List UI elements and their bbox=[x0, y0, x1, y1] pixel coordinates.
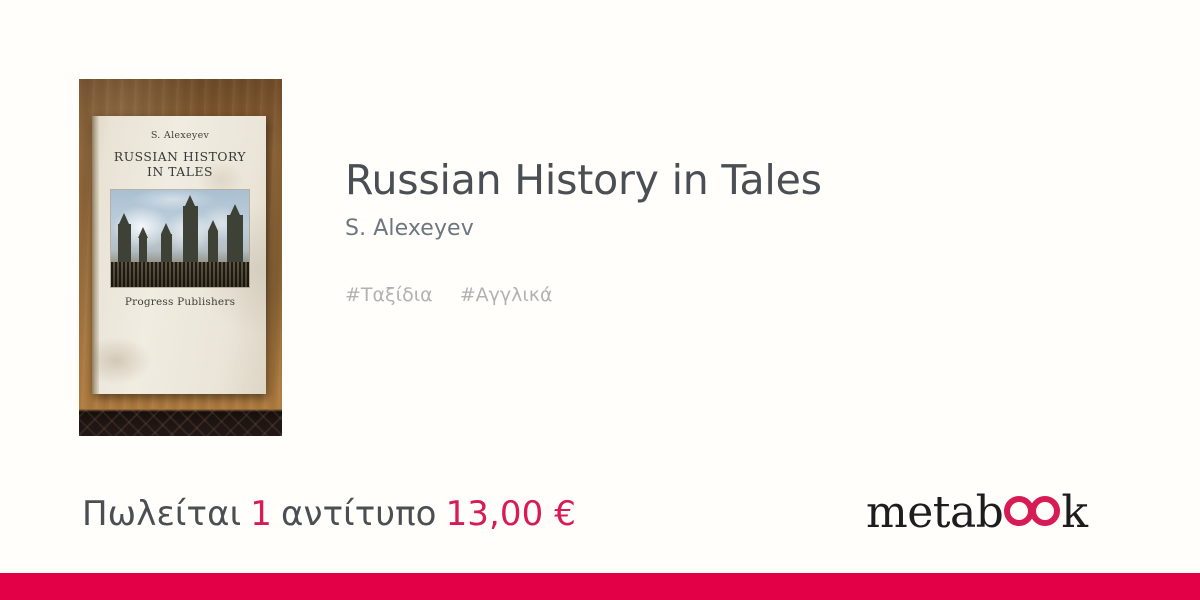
metabook-wordmark: metab k bbox=[866, 491, 1088, 535]
book-front-cover: S. Alexeyev RUSSIAN HISTORY IN TALES Pro… bbox=[92, 116, 266, 308]
copies-unit: αντίτυπο bbox=[281, 494, 437, 534]
artwork-crowd bbox=[111, 262, 249, 287]
tag-list: #Ταξίδια #Αγγλικά bbox=[345, 284, 1145, 306]
logo-text-before-rings: metab bbox=[866, 491, 1003, 535]
artwork-tower bbox=[139, 238, 147, 264]
patterned-rug-background bbox=[79, 409, 282, 436]
tag-english[interactable]: #Αγγλικά bbox=[460, 284, 553, 306]
availability-line: Πωλείται1αντίτυπο13,00 € bbox=[82, 494, 576, 534]
availability-prefix: Πωλείται bbox=[82, 494, 241, 534]
ring-right bbox=[1030, 496, 1060, 526]
bottom-accent-bar bbox=[0, 573, 1200, 600]
cover-title-text: RUSSIAN HISTORY IN TALES bbox=[104, 150, 256, 180]
artwork-tower bbox=[161, 234, 172, 264]
logo-text-after-rings: k bbox=[1061, 491, 1087, 535]
listing-page: S. Alexeyev RUSSIAN HISTORY IN TALES Pro… bbox=[0, 0, 1200, 600]
book-author: S. Alexeyev bbox=[345, 216, 1145, 241]
book-cover-photo[interactable]: S. Alexeyev RUSSIAN HISTORY IN TALES Pro… bbox=[79, 79, 282, 436]
listing-details: Russian History in Tales S. Alexeyev #Τα… bbox=[345, 158, 1145, 306]
cover-artwork bbox=[111, 190, 249, 287]
book-object: S. Alexeyev RUSSIAN HISTORY IN TALES Pro… bbox=[92, 116, 266, 394]
page-title: Russian History in Tales bbox=[345, 158, 1145, 204]
cover-author-text: S. Alexeyev bbox=[104, 130, 256, 141]
cover-title-line-2: IN TALES bbox=[104, 165, 256, 180]
interlocking-rings-icon bbox=[1004, 496, 1060, 526]
artwork-tower bbox=[183, 206, 198, 264]
metabook-logo[interactable]: metab k bbox=[866, 490, 1088, 536]
artwork-tower bbox=[208, 231, 218, 264]
cover-publisher-text: Progress Publishers bbox=[104, 296, 256, 308]
artwork-tower bbox=[118, 224, 131, 264]
cover-title-line-1: RUSSIAN HISTORY bbox=[104, 150, 256, 165]
price-value: 13,00 € bbox=[446, 494, 576, 534]
tag-travel[interactable]: #Ταξίδια bbox=[345, 284, 433, 306]
copies-count: 1 bbox=[250, 494, 272, 534]
artwork-tower bbox=[227, 215, 243, 264]
